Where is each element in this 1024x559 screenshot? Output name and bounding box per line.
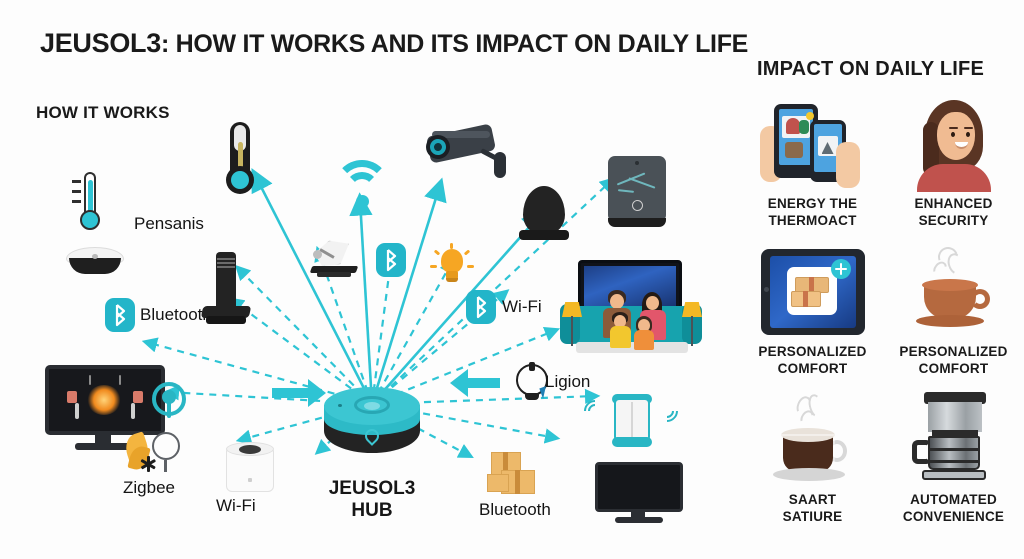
thermometer-filled-icon: [225, 122, 255, 194]
wall-panel-tablet-icon: [608, 156, 666, 230]
tower-speaker-icon: [200, 252, 252, 330]
hub-label: JEUSOL3 HUB: [312, 478, 432, 522]
impact-panel: ENERGY THE THERMOACT: [742, 92, 1024, 538]
impact-item-saart-satiure[interactable]: SAART SATIURE: [742, 388, 883, 538]
flat-tv-icon: [595, 462, 683, 524]
bluetooth-badge-icon: [376, 243, 406, 277]
tablet-package-icon: [761, 244, 865, 340]
impact-item-automated-convenience[interactable]: AUTOMATED CONVENIENCE: [883, 388, 1024, 538]
security-camera-icon: [428, 126, 520, 188]
coffee-maker-icon: [908, 392, 1000, 488]
target-sensor-icon: [152, 382, 186, 420]
impact-item-energy-thermoact[interactable]: ENERGY THE THERMOACT: [742, 92, 883, 240]
wifi-right-bluetooth-icon: [466, 290, 496, 324]
smart-speaker-icon: [606, 392, 658, 450]
satellite-dish-icon: [307, 238, 361, 282]
wifi-signal-icon: [333, 160, 391, 208]
hot-coffee-mug-icon: [767, 392, 859, 488]
impact-item-enhanced-security[interactable]: ENHANCED SECURITY: [883, 92, 1024, 240]
impact-label: PERSONALIZED COMFORT: [758, 344, 866, 378]
phones-in-hands-icon: [758, 96, 868, 192]
woman-portrait-icon: [911, 96, 997, 192]
node-label-zigbee: Zigbee: [123, 478, 175, 498]
impact-label: SAART SATIURE: [783, 492, 843, 526]
coffee-cup-icon: [908, 244, 1000, 340]
zigbee-leaf-icon: [124, 430, 186, 482]
smart-hub-puck-icon: [318, 385, 426, 463]
impact-item-personalized-comfort-coffee[interactable]: PERSONALIZED COMFORT: [883, 240, 1024, 388]
node-label-lighting: Ligion: [545, 372, 590, 392]
node-label-sensors: Pensanis: [134, 214, 204, 234]
section-heading-impact: IMPACT ON DAILY LIFE: [757, 58, 984, 81]
white-speaker-icon: [222, 440, 278, 496]
impact-item-personalized-comfort-tablet[interactable]: PERSONALIZED COMFORT: [742, 240, 883, 388]
infographic-canvas: JEUSOL3: HOW IT WORKS AND ITS IMPACT ON …: [0, 0, 1024, 559]
impact-label: ENERGY THE THERMOACT: [768, 196, 858, 230]
thermometer-outline-icon: [72, 172, 108, 234]
impact-label: ENHANCED SECURITY: [914, 196, 992, 230]
light-bulb-icon: [430, 243, 474, 293]
node-label-wifi-bottom: Wi-Fi: [216, 496, 256, 516]
blob-speaker-icon: [519, 186, 569, 244]
impact-label: PERSONALIZED COMFORT: [899, 344, 1007, 378]
node-label-bluetooth-right: Bluetooth: [479, 500, 551, 520]
node-label-wifi-right: Wi-Fi: [502, 297, 542, 317]
impact-label: AUTOMATED CONVENIENCE: [903, 492, 1004, 526]
puck-sensor-icon: [66, 247, 124, 277]
cardboard-boxes-icon: [487, 450, 545, 504]
living-room-family-icon: [556, 258, 706, 358]
bluetooth-icon: [105, 298, 135, 332]
